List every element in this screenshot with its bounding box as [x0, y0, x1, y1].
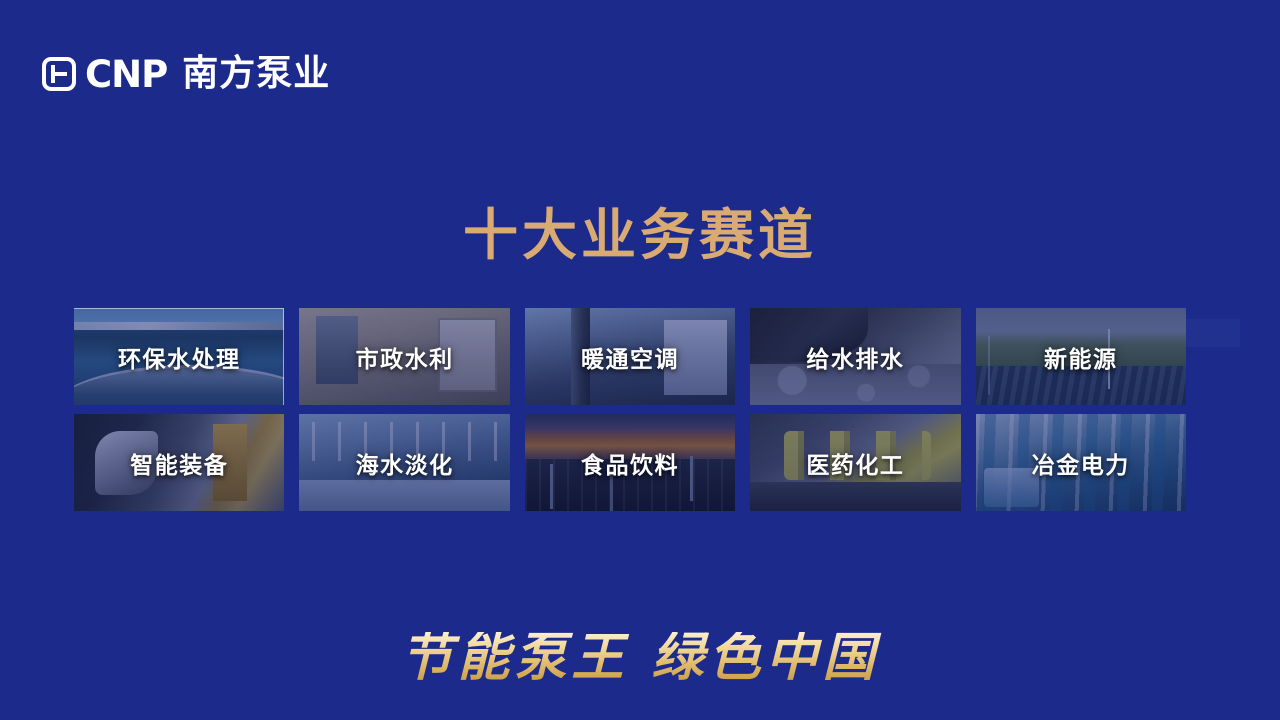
business-card-yejindianli[interactable]: 冶金电力 — [976, 414, 1186, 511]
business-card-label: 智能装备 — [130, 446, 228, 480]
business-card-label: 市政水利 — [356, 340, 454, 374]
brand-latin-name: CNP — [85, 56, 167, 93]
business-card-xinnengyuan[interactable]: 新能源 — [976, 308, 1186, 405]
business-card-label: 暖通空调 — [581, 340, 679, 374]
slide-root: CNP 南方泵业 十大业务赛道 环保水处理 市政水利 暖通空调 给 — [0, 0, 1280, 720]
business-card-shipinyinliao[interactable]: 食品饮料 — [525, 414, 735, 511]
business-card-label: 食品饮料 — [581, 446, 679, 480]
business-card-label: 海水淡化 — [356, 446, 454, 480]
business-card-haishuidanhua[interactable]: 海水淡化 — [299, 414, 509, 511]
brand-chinese-name: 南方泵业 — [182, 56, 330, 92]
cnp-emblem-icon — [42, 57, 76, 91]
business-card-label: 给水排水 — [806, 340, 904, 374]
business-card-shizhengshuili[interactable]: 市政水利 — [299, 308, 509, 405]
footer-slogan: 节能泵王 绿色中国 — [0, 632, 1280, 684]
business-card-huanbaoshuichuli[interactable]: 环保水处理 — [74, 308, 284, 405]
business-card-yiyaohuagong[interactable]: 医药化工 — [750, 414, 960, 511]
business-card-label: 新能源 — [1044, 340, 1118, 374]
business-card-nuantongkongtiao[interactable]: 暖通空调 — [525, 308, 735, 405]
business-card-label: 冶金电力 — [1032, 446, 1130, 480]
business-card-label: 医药化工 — [806, 446, 904, 480]
business-card-jishuipaishui[interactable]: 给水排水 — [750, 308, 960, 405]
business-track-grid: 环保水处理 市政水利 暖通空调 给水排水 新能源 — [74, 308, 1186, 511]
business-card-label: 环保水处理 — [118, 340, 241, 374]
background-artifact-rectangle — [1185, 319, 1240, 347]
page-title: 十大业务赛道 — [0, 205, 1280, 266]
business-card-zhinengzhuangbei[interactable]: 智能装备 — [74, 414, 284, 511]
brand-logo[interactable]: CNP 南方泵业 — [42, 52, 330, 96]
